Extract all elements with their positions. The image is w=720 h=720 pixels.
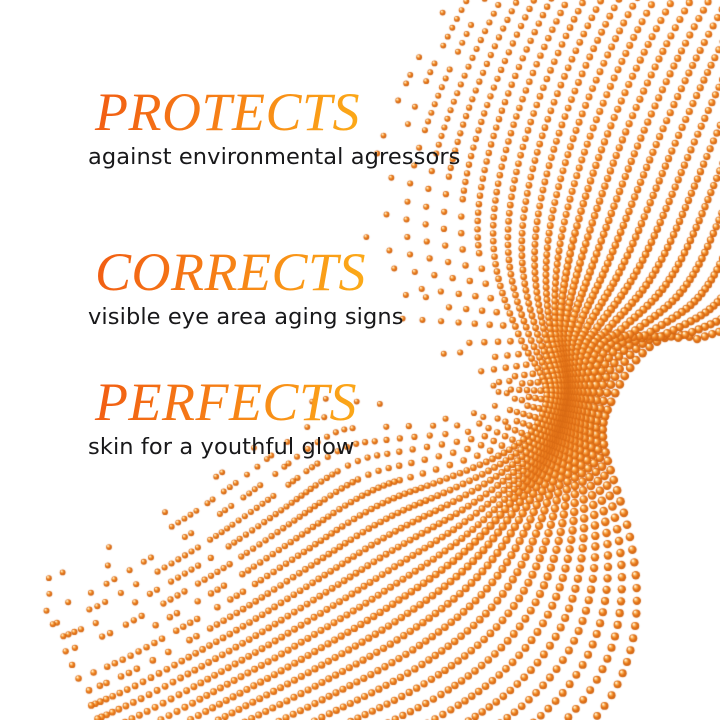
benefit-item: CORRECTS visible eye area aging signs: [0, 244, 470, 332]
promo-canvas: PROTECTS against environmental agressors…: [0, 0, 720, 720]
benefit-headline: PERFECTS: [0, 374, 470, 430]
benefit-subline: against environmental agressors: [0, 142, 470, 172]
benefit-item: PERFECTS skin for a youthful glow: [0, 374, 470, 462]
benefit-item: PROTECTS against environmental agressors: [0, 84, 470, 172]
benefit-headline: PROTECTS: [0, 84, 470, 140]
benefit-subline: skin for a youthful glow: [0, 432, 470, 462]
benefits-copy-block: PROTECTS against environmental agressors…: [0, 0, 470, 720]
benefit-subline: visible eye area aging signs: [0, 302, 470, 332]
benefit-headline: CORRECTS: [0, 244, 470, 300]
